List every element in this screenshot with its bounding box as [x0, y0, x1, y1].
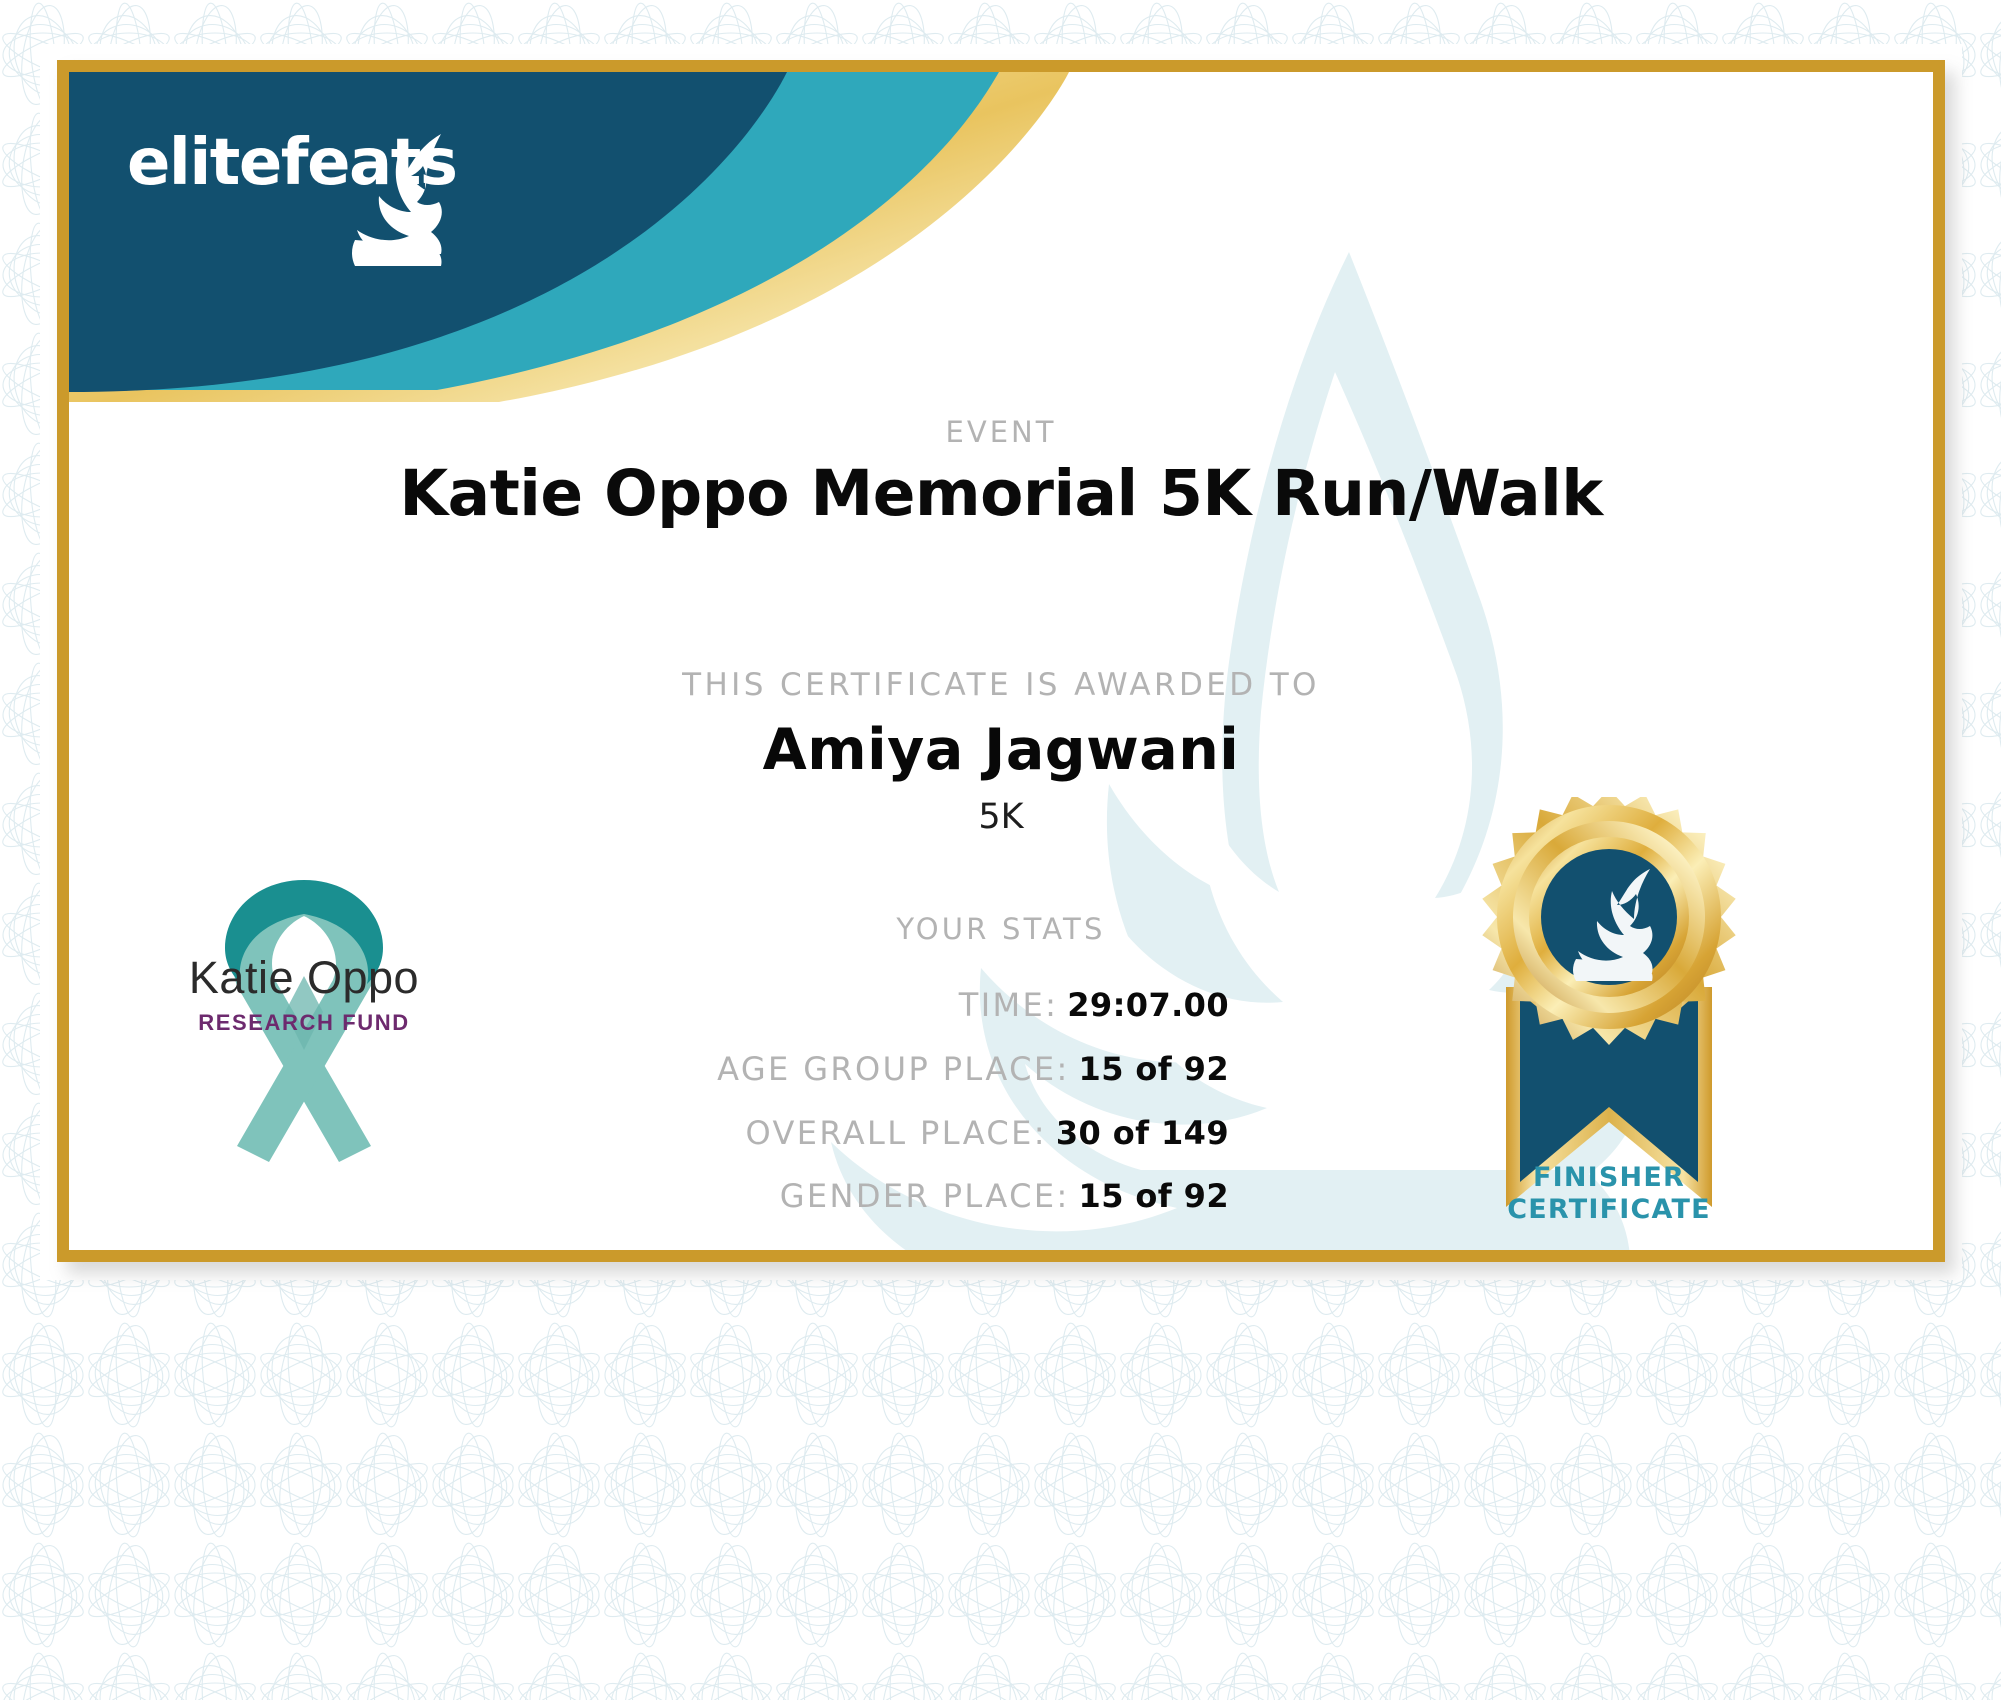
- stat-value: 30 of 149: [1056, 1114, 1229, 1152]
- header-swoosh: elitefeats: [69, 72, 1069, 402]
- awareness-ribbon-icon: [149, 862, 459, 1172]
- certificate-card: elitefeats EVENT Katie Oppo Memorial 5K …: [57, 60, 1945, 1262]
- event-name: Katie Oppo Memorial 5K Run/Walk: [69, 457, 1933, 530]
- stat-value: 15 of 92: [1079, 1177, 1229, 1215]
- stat-row: OVERALL PLACE: 30 of 149: [369, 1115, 1229, 1153]
- stat-value: 29:07.00: [1067, 986, 1229, 1024]
- event-label: EVENT: [69, 415, 1933, 449]
- medal-caption-line1: FINISHER: [1409, 1162, 1809, 1194]
- stat-key: GENDER PLACE:: [780, 1177, 1070, 1215]
- medal-caption-line2: CERTIFICATE: [1409, 1194, 1809, 1226]
- stat-row: GENDER PLACE: 15 of 92: [369, 1178, 1229, 1216]
- awarded-to-label: THIS CERTIFICATE IS AWARDED TO: [69, 667, 1933, 703]
- medal-caption: FINISHER CERTIFICATE: [1409, 1162, 1809, 1226]
- certificate-page: elitefeats EVENT Katie Oppo Memorial 5K …: [0, 0, 2001, 1700]
- stat-value: 15 of 92: [1079, 1050, 1229, 1088]
- stat-key: OVERALL PLACE:: [745, 1114, 1047, 1152]
- recipient-name: Amiya Jagwani: [69, 717, 1933, 783]
- stat-key: AGE GROUP PLACE:: [717, 1050, 1070, 1088]
- stats-list: TIME: 29:07.00 AGE GROUP PLACE: 15 of 92…: [369, 987, 1229, 1242]
- stat-key: TIME:: [959, 986, 1059, 1024]
- stat-row: TIME: 29:07.00: [369, 987, 1229, 1025]
- stat-row: AGE GROUP PLACE: 15 of 92: [369, 1051, 1229, 1089]
